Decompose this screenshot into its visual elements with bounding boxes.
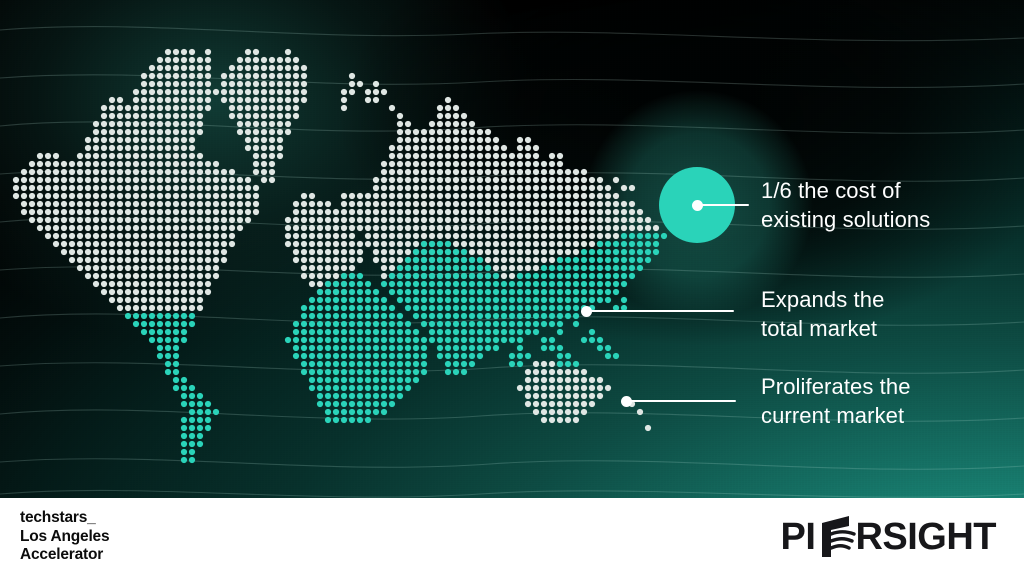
piersight-prefix: PI	[781, 516, 816, 559]
slide-root: 1/6 the cost of existing solutions Expan…	[0, 0, 1024, 576]
piersight-logo: PI RSIGHT	[781, 514, 996, 560]
footer-bar: techstars_ Los Angeles Accelerator PI	[0, 498, 1024, 576]
leader-line-expands	[586, 310, 734, 312]
leader-line-proliferates	[626, 400, 736, 402]
piersight-wordmark: PI RSIGHT	[781, 514, 996, 560]
piersight-suffix: RSIGHT	[855, 516, 996, 559]
leader-line-cost	[697, 204, 749, 206]
callout-text-expands: Expands the total market	[761, 285, 1011, 343]
techstars-logo: techstars_ Los Angeles Accelerator	[20, 509, 109, 565]
sail-radar-mark-icon	[813, 514, 857, 560]
callout-text-cost: 1/6 the cost of existing solutions	[761, 176, 1011, 234]
callout-text-proliferates: Proliferates the current market	[761, 372, 1011, 430]
